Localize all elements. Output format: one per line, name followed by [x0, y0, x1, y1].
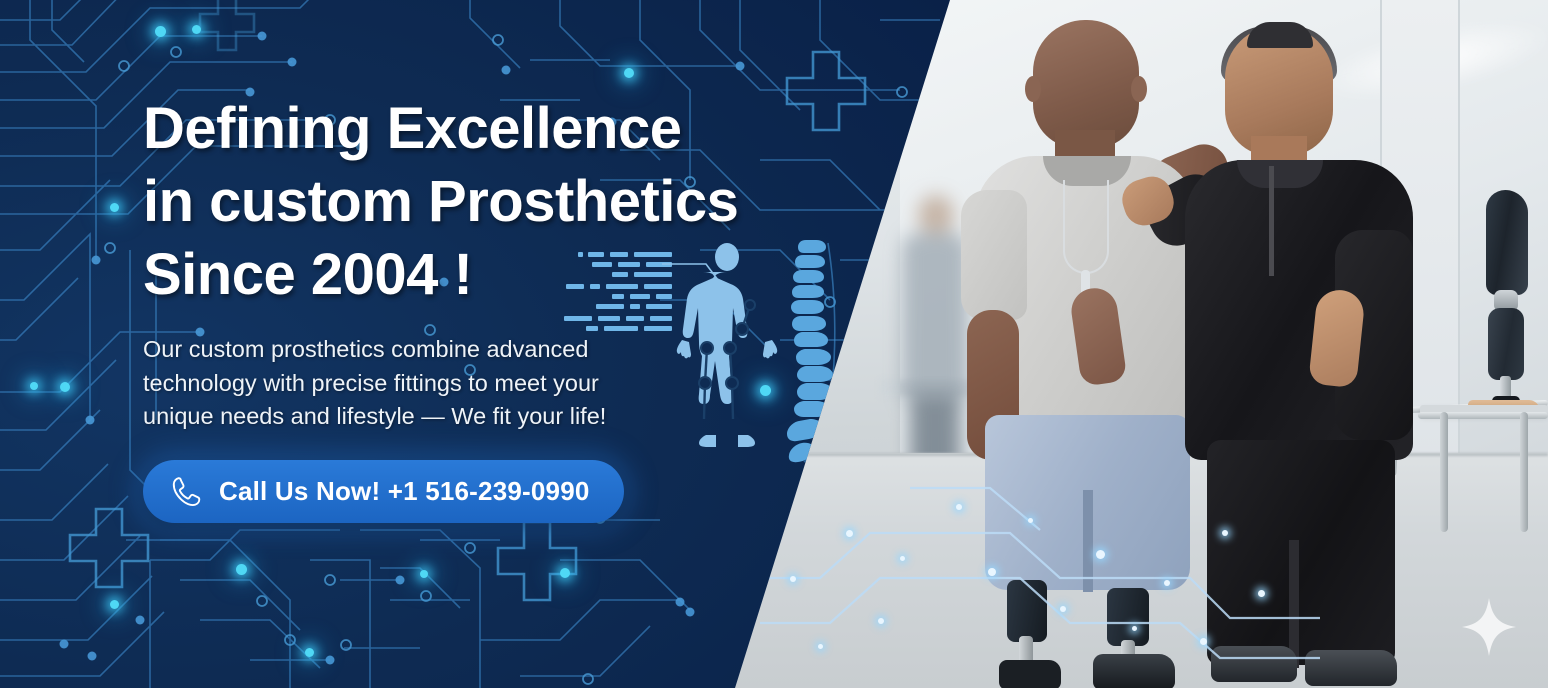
circuit-glow-node	[420, 570, 428, 578]
subtext-line-2: technology with precise fittings to meet…	[143, 367, 803, 400]
prosthetic-leg-icon	[1478, 190, 1540, 415]
circuit-glow-node	[60, 382, 70, 392]
phone-icon	[169, 474, 203, 508]
subtext-line-3: unique needs and lifestyle — We fit your…	[143, 400, 803, 433]
patient-figure	[955, 20, 1220, 688]
circuit-glow-node	[110, 203, 119, 212]
hero-subtext: Our custom prosthetics combine advanced …	[143, 333, 803, 433]
display-rail	[1418, 412, 1548, 419]
page-title: Defining Excellence in custom Prosthetic…	[143, 92, 803, 311]
circuit-glow-node	[30, 382, 38, 390]
headline-line-3: Since 2004 !	[143, 238, 803, 311]
display-rail-leg	[1520, 412, 1528, 532]
circuit-glow-node	[305, 648, 314, 657]
circuit-glow-node	[236, 564, 247, 575]
sparkle-icon	[1462, 598, 1516, 656]
call-us-label: Call Us Now! +1 516-239-0990	[219, 476, 590, 507]
hero-text-block: Defining Excellence in custom Prosthetic…	[143, 92, 803, 433]
headline-line-2: in custom Prosthetics	[143, 165, 803, 238]
circuit-glow-node	[624, 68, 634, 78]
headline-line-1: Defining Excellence	[143, 92, 803, 165]
clinician-figure	[1185, 10, 1430, 688]
circuit-glow-node	[110, 600, 119, 609]
circuit-glow-node	[192, 25, 201, 34]
circuit-glow-node	[560, 568, 570, 578]
circuit-glow-node	[155, 26, 166, 37]
subtext-line-1: Our custom prosthetics combine advanced	[143, 333, 803, 366]
hero-banner: Defining Excellence in custom Prosthetic…	[0, 0, 1548, 688]
call-us-button[interactable]: Call Us Now! +1 516-239-0990	[143, 460, 624, 523]
display-rail-leg	[1440, 412, 1448, 532]
